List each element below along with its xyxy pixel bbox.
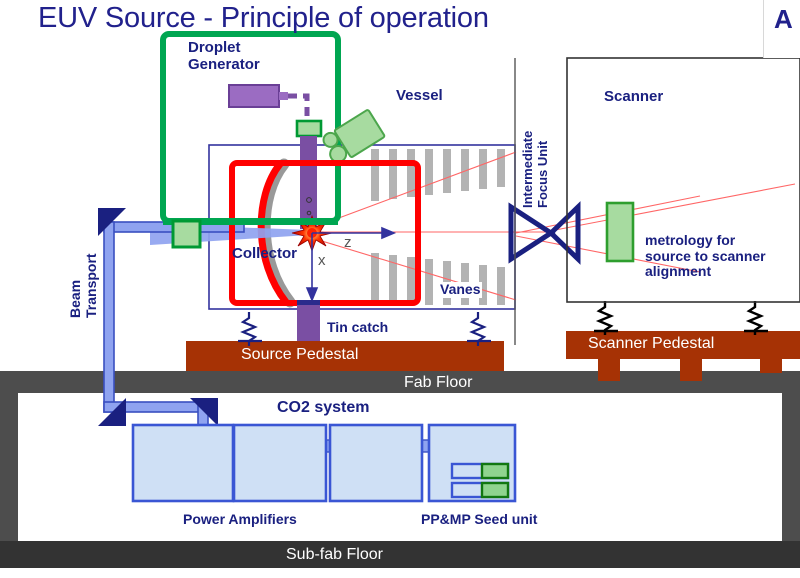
fab-floor-label: Fab Floor	[404, 374, 472, 392]
laser-entrance-window	[173, 221, 200, 247]
beam-transport-label: Beam Transport	[68, 253, 99, 318]
vibration-isolator-scanner-left	[594, 301, 618, 335]
page-title: EUV Source - Principle of operation	[38, 2, 489, 35]
source-pedestal-label: Source Pedestal	[241, 346, 358, 364]
corner-fragment-letter: A	[774, 4, 793, 35]
vibration-isolator-source-right	[467, 312, 491, 346]
corner-fragment: A	[763, 0, 800, 58]
scanner-pedestal-label: Scanner Pedestal	[588, 335, 714, 353]
co2-box-power-amplifier-3	[330, 425, 422, 501]
scanner-label: Scanner	[604, 89, 663, 106]
tin-catch-shape	[297, 300, 320, 341]
co2-system-label: CO2 system	[277, 399, 370, 417]
vanes-label: Vanes	[438, 282, 482, 298]
bowtie-focus-icon	[511, 207, 578, 259]
droplet-nozzle	[297, 121, 321, 136]
sub-fab-floor-slab	[0, 541, 800, 578]
metrology-sensor	[607, 203, 633, 261]
intermediate-focus-unit-label: Intermediate Focus Unit	[521, 131, 550, 208]
droplet-reservoir	[229, 85, 288, 107]
vessel-label: Vessel	[396, 88, 443, 105]
slide-canvas: EUV Source - Principle of operation A Dr…	[0, 0, 800, 578]
axis-x-label: x	[318, 252, 326, 269]
power-amplifiers-label: Power Amplifiers	[183, 512, 297, 528]
collector-label: Collector	[232, 246, 297, 263]
axis-z-label: z	[344, 234, 352, 251]
co2-box-power-amplifier-1	[133, 425, 233, 501]
tin-catch-label: Tin catch	[327, 320, 388, 336]
vibration-isolator-scanner-right	[744, 301, 768, 335]
co2-box-power-amplifier-2	[234, 425, 326, 501]
seed-unit-label: PP&MP Seed unit	[421, 512, 537, 528]
sub-fab-floor-label: Sub-fab Floor	[286, 546, 383, 564]
metrology-label: metrology for source to scanner alignmen…	[645, 233, 766, 280]
vibration-isolator-source-left	[238, 312, 262, 346]
droplet-generator-label: Droplet Generator	[188, 40, 260, 74]
